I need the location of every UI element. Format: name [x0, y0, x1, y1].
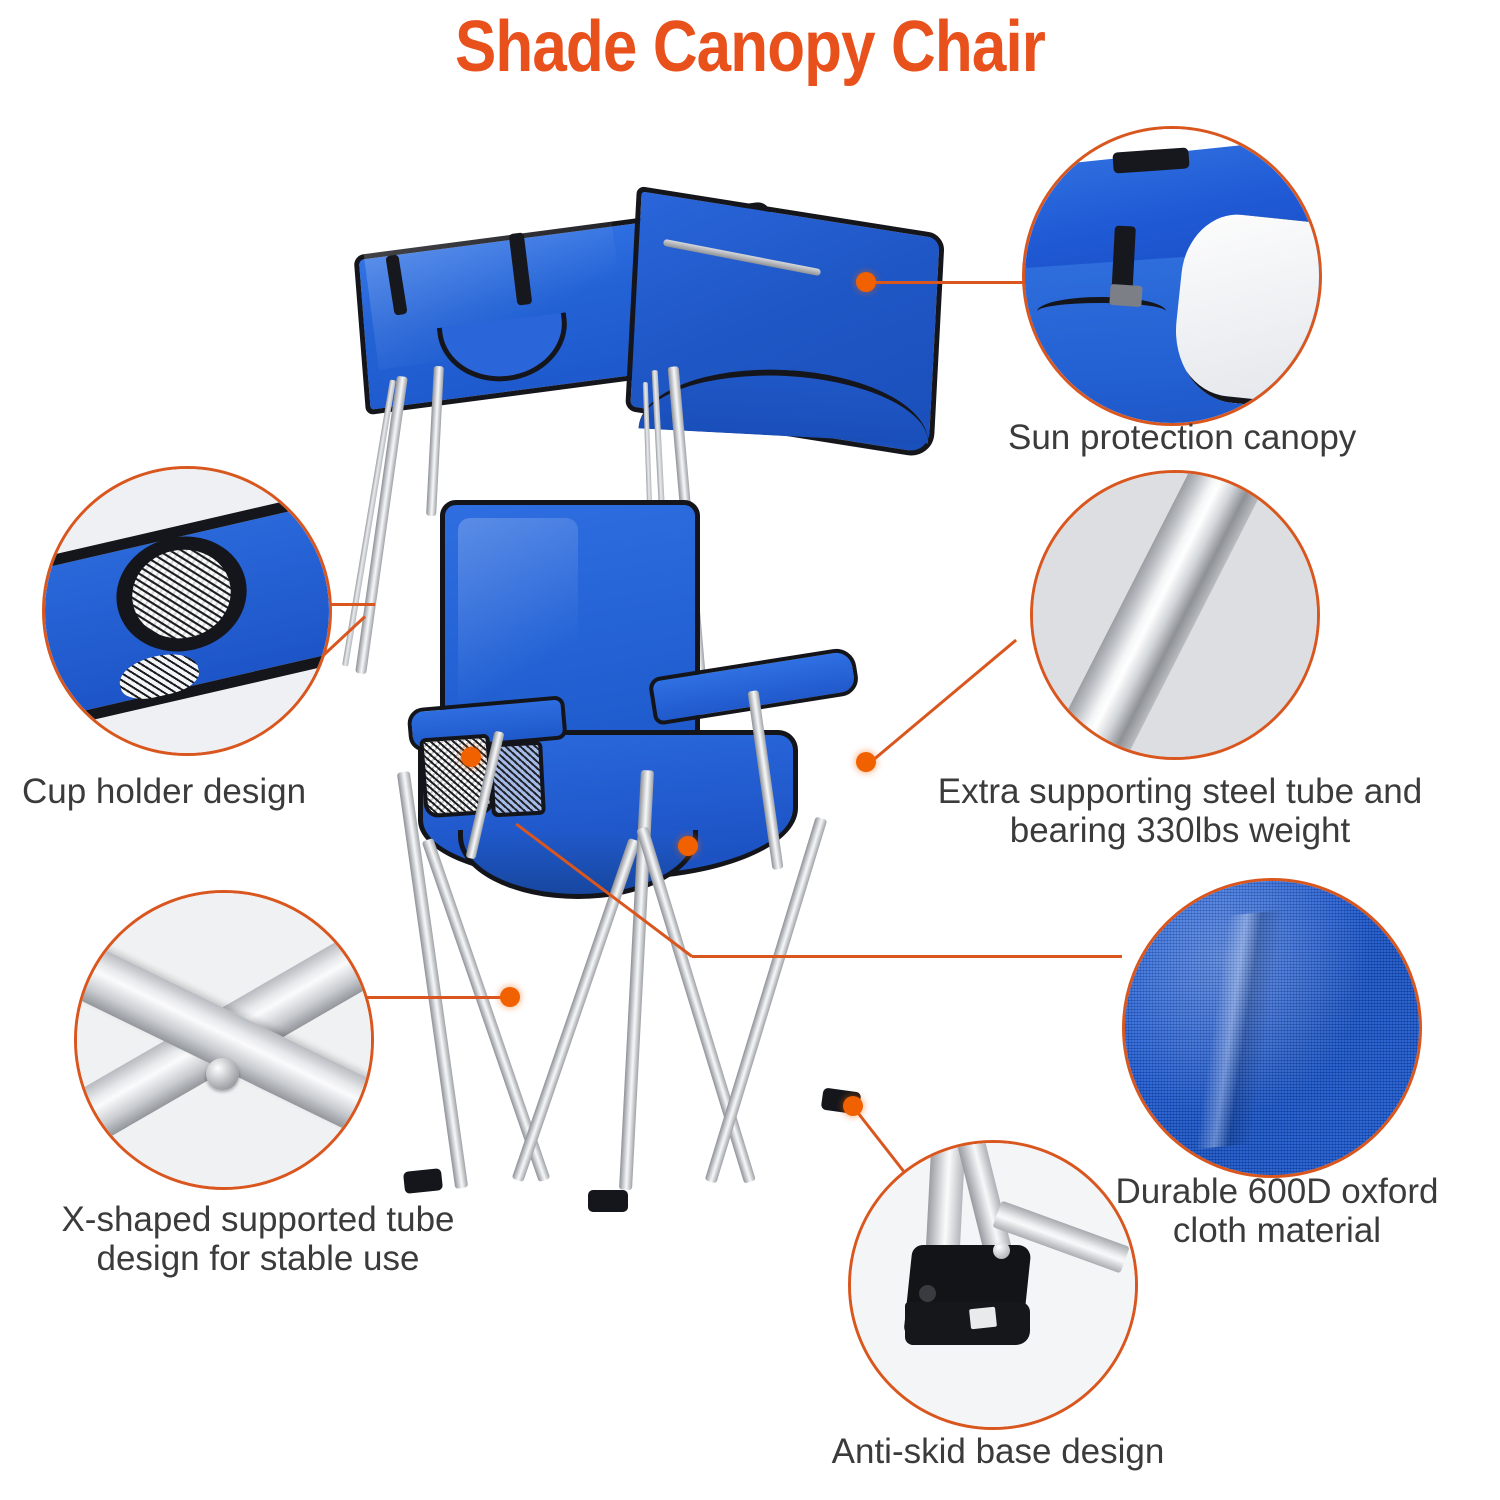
leg-cross-d [705, 817, 828, 1184]
x-tube-closeup-art [77, 893, 371, 1187]
canopy-closeup-art [1025, 129, 1319, 423]
product-photo [330, 170, 970, 1240]
oxford-cloth-closeup-art [1125, 881, 1419, 1175]
detail-bubble-sun-protection-canopy[interactable] [1022, 126, 1322, 426]
caption-oxford-cloth: Durable 600D oxford cloth material [1092, 1172, 1462, 1250]
detail-bubble-steel-tube[interactable] [1030, 470, 1320, 760]
hotspot-dot-oxford-cloth [678, 836, 698, 856]
caption-sun-protection-canopy: Sun protection canopy [1008, 418, 1488, 457]
hotspot-dot-steel-tube [856, 752, 876, 772]
caption-steel-tube: Extra supporting steel tube and bearing … [900, 772, 1460, 850]
infographic-canvas: Shade Canopy Chair [0, 0, 1500, 1500]
hotspot-dot-anti-skid [843, 1096, 863, 1116]
caption-x-tube: X-shaped supported tube design for stabl… [8, 1200, 508, 1278]
detail-bubble-cup-holder[interactable] [42, 466, 332, 756]
caption-anti-skid-base: Anti-skid base design [778, 1432, 1218, 1471]
page-title: Shade Canopy Chair [105, 6, 1395, 88]
cup-holder-closeup-art [45, 469, 329, 753]
detail-bubble-anti-skid-base[interactable] [848, 1140, 1138, 1430]
anti-skid-base-closeup-art [851, 1143, 1135, 1427]
canopy-pole-left [355, 376, 408, 675]
hotspot-dot-canopy [856, 272, 876, 292]
hotspot-dot-cup-holder [461, 747, 481, 767]
hotspot-dot-x-tube [500, 987, 520, 1007]
leg-cross-c [636, 826, 756, 1183]
foot-center [588, 1190, 628, 1212]
caption-cup-holder: Cup holder design [22, 772, 442, 811]
steel-tube-closeup-art [1033, 473, 1317, 757]
foot-front-left [403, 1168, 443, 1194]
detail-bubble-x-tube[interactable] [74, 890, 374, 1190]
leader-line-cloth-horiz [692, 955, 1122, 958]
detail-bubble-oxford-cloth[interactable] [1122, 878, 1422, 1178]
